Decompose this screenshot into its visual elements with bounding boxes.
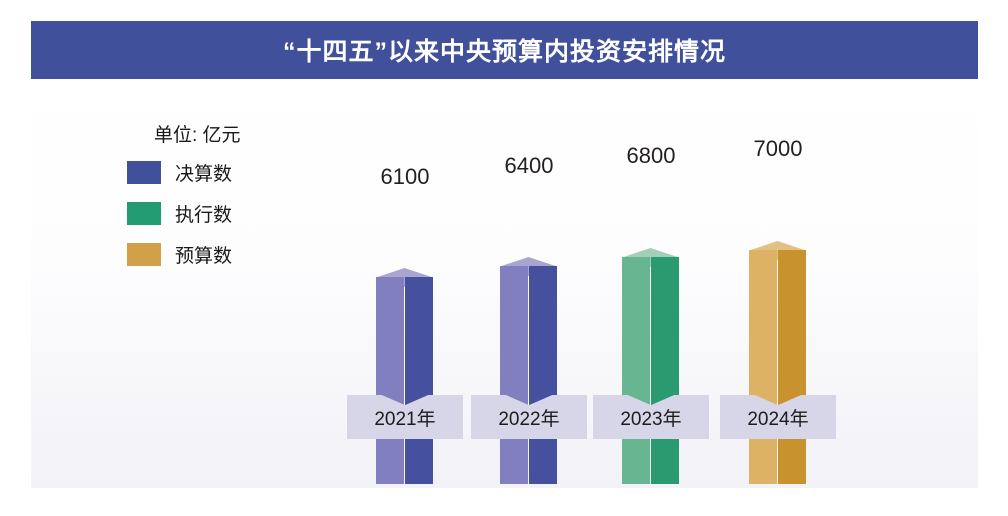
category-label-text: 2022年 — [498, 404, 559, 431]
plot-area: 6100 2021年 6400 2022年 — [31, 80, 978, 488]
chart-panel: 单位: 亿元 决算数 执行数 预算数 6100 — [31, 80, 978, 488]
bar-right-face — [529, 266, 557, 484]
bar-left-face — [500, 266, 528, 484]
category-label-text: 2021年 — [374, 404, 435, 431]
bar-right-face — [778, 250, 806, 484]
bar-value-label: 6100 — [381, 164, 430, 190]
bar-3d — [749, 241, 806, 484]
bar-left-face — [622, 257, 650, 484]
category-label-text: 2023年 — [620, 404, 681, 431]
bar-right-face — [651, 257, 679, 484]
bar-3d — [500, 257, 557, 484]
infographic-root: “十四五”以来中央预算内投资安排情况 单位: 亿元 决算数 执行数 预算数 — [0, 0, 1008, 516]
bar-value-label: 6800 — [627, 143, 676, 169]
title-bar: “十四五”以来中央预算内投资安排情况 — [31, 21, 978, 79]
bar-left-face — [376, 277, 404, 484]
bar-left-face — [749, 250, 777, 484]
category-label-text: 2024年 — [747, 404, 808, 431]
bar-value-label: 6400 — [505, 153, 554, 179]
bar-3d — [376, 268, 433, 484]
page-title: “十四五”以来中央预算内投资安排情况 — [283, 32, 726, 68]
bar-right-face — [405, 277, 433, 484]
bar-3d — [622, 248, 679, 484]
bar-value-label: 7000 — [754, 136, 803, 162]
